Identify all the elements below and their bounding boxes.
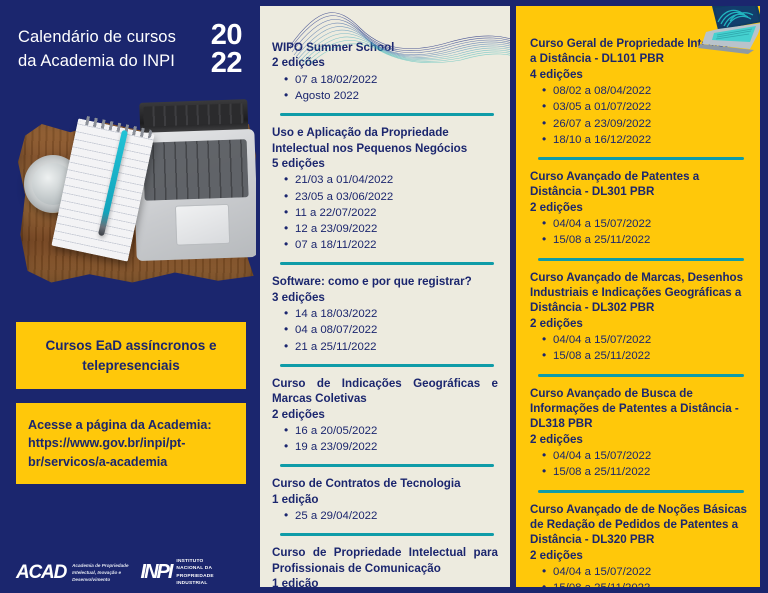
inpi-tagline-line-4: INDUSTRIAL [176,580,213,587]
course-block: Curso de Indicações Geográficas e Marcas… [272,376,498,456]
course-date-item: Agosto 2022 [284,88,498,104]
course-title: Curso Avançado de de Noções Básicas de R… [530,502,748,548]
page-title-line-1: Calendário de cursos [18,28,176,46]
academy-link-url-part-2: br/servicos/a-academia [28,453,234,471]
acad-tagline: Academia de Propriedade Intelectual, Ino… [72,562,128,583]
acad-tagline-line-2: Intelectual, Inovação e [72,569,128,576]
section-divider [280,464,494,467]
inpi-logo: INPI INSTITUTO NACIONAL DA PROPRIEDADE I… [141,558,214,587]
course-date-list: 16 a 20/05/202219 a 23/09/2022 [272,423,498,455]
course-date-item: 15/08 a 25/11/2022 [542,464,748,480]
course-date-item: 04 a 08/07/2022 [284,322,498,338]
course-block: Curso Avançado de Marcas, Desenhos Indus… [530,270,748,365]
course-date-item: 04/04 a 15/07/2022 [542,332,748,348]
course-editions-count: 2 edições [530,548,748,563]
course-date-item: 08/02 a 08/04/2022 [542,83,748,99]
course-date-item: 03/05 a 01/07/2022 [542,99,748,115]
course-title: Curso Avançado de Busca de Informações d… [530,386,748,432]
course-block: Curso de Contratos de Tecnologia1 edição… [272,476,498,524]
course-editions-count: 3 edições [272,290,498,305]
section-divider [538,490,744,493]
course-editions-count: 1 edição [272,492,498,507]
callout-course-modes: Cursos EaD assíncronos e telepresenciais [16,322,246,389]
course-date-item: 15/08 a 25/11/2022 [542,232,748,248]
course-title: Curso Avançado de Marcas, Desenhos Indus… [530,270,748,316]
course-date-list: 08/02 a 08/04/202203/05 a 01/07/202226/0… [530,83,748,148]
section-divider [280,533,494,536]
course-date-item: 18/10 a 16/12/2022 [542,132,748,148]
laptop-image [131,99,256,261]
year-badge: 20 22 [211,22,246,77]
year-top: 20 [211,22,242,50]
section-divider [538,258,744,261]
course-title: Curso de Indicações Geográficas e Marcas… [272,376,498,407]
course-date-item: 23/05 a 03/06/2022 [284,189,498,205]
academy-link-label: Acesse a página da Academia: [28,416,234,434]
course-date-list: 21/03 a 01/04/202223/05 a 03/06/202211 a… [272,172,498,253]
course-date-list: 25 a 29/04/2022 [272,508,498,524]
academy-link-url-part-1: https://www.gov.br/inpi/pt- [28,434,234,452]
page-title: Calendário de cursos da Academia do INPI [18,22,176,74]
acad-tagline-line-3: Desenvolvimento [72,576,128,583]
course-date-list: 07 a 18/02/2022Agosto 2022 [272,72,498,104]
course-date-list: 04/04 a 15/07/202215/08 a 25/11/2022 [530,332,748,364]
course-date-item: 07 a 18/02/2022 [284,72,498,88]
middle-course-list: WIPO Summer School2 edições07 a 18/02/20… [272,40,498,587]
right-course-list: Curso Geral de Propriedade Intelectual a… [530,36,748,587]
course-title: Curso de Contratos de Tecnologia [272,476,498,491]
section-divider [538,157,744,160]
course-date-item: 04/04 a 15/07/2022 [542,216,748,232]
course-date-item: 04/04 a 15/07/2022 [542,448,748,464]
course-date-item: 21/03 a 01/04/2022 [284,172,498,188]
inpi-tagline-line-3: PROPRIEDADE [176,573,213,580]
course-title: Curso Avançado de Patentes a Distância -… [530,169,748,200]
course-date-item: 11 a 22/07/2022 [284,205,498,221]
course-title: WIPO Summer School [272,40,498,55]
course-date-item: 15/08 a 25/11/2022 [542,580,748,587]
course-editions-count: 5 edições [272,156,498,171]
course-editions-count: 1 edição [272,576,498,587]
acad-wordmark: ACAD [16,562,66,584]
callout-academy-link[interactable]: Acesse a página da Academia: https://www… [16,403,246,484]
course-date-item: 19 a 23/09/2022 [284,439,498,455]
laptop-keyboard [143,139,249,201]
header-title-block: Calendário de cursos da Academia do INPI… [0,0,260,77]
desk-photo [6,89,256,304]
course-editions-count: 2 edições [530,432,748,447]
course-date-item: 04/04 a 15/07/2022 [542,564,748,580]
inpi-tagline-line-1: INSTITUTO [176,558,213,565]
course-date-list: 04/04 a 15/07/202215/08 a 25/11/2022 [530,448,748,480]
course-block: Curso Avançado de Busca de Informações d… [530,386,748,481]
inpi-wordmark: INPI [141,561,172,584]
course-block: Curso de Propriedade Intelectual para Pr… [272,545,498,587]
course-date-item: 26/07 a 23/09/2022 [542,116,748,132]
course-date-item: 12 a 23/09/2022 [284,221,498,237]
course-date-item: 07 a 18/11/2022 [284,237,498,253]
course-date-list: 14 a 18/03/202204 a 08/07/202221 a 25/11… [272,306,498,355]
course-block: Curso Avançado de de Noções Básicas de R… [530,502,748,587]
acad-tagline-line-1: Academia de Propriedade [72,562,128,569]
poster-root: Calendário de cursos da Academia do INPI… [0,0,768,593]
middle-course-panel: WIPO Summer School2 edições07 a 18/02/20… [260,6,510,587]
course-date-item: 15/08 a 25/11/2022 [542,348,748,364]
course-block: Software: como e por que registrar?3 edi… [272,274,498,354]
course-editions-count: 2 edições [272,407,498,422]
year-bottom: 22 [211,50,242,78]
inpi-tagline: INSTITUTO NACIONAL DA PROPRIEDADE INDUST… [176,558,213,587]
laptop-trackpad [175,204,230,246]
course-editions-count: 2 edições [530,200,748,215]
page-title-line-2: da Academia do INPI [18,50,176,74]
course-date-list: 04/04 a 15/07/202215/08 a 25/11/2022 [530,564,748,587]
course-editions-count: 2 edições [530,316,748,331]
section-divider [280,262,494,265]
acad-logo: ACAD Academia de Propriedade Intelectual… [16,562,129,584]
section-divider [538,374,744,377]
right-course-panel: Curso Geral de Propriedade Intelectual a… [516,6,760,587]
course-editions-count: 2 edições [272,55,498,70]
course-date-item: 14 a 18/03/2022 [284,306,498,322]
section-divider [280,113,494,116]
course-title: Curso de Propriedade Intelectual para Pr… [272,545,498,576]
laptop-illustration-icon [692,6,760,56]
inpi-tagline-line-2: NACIONAL DA [176,565,213,572]
course-block: Uso e Aplicação da Propriedade Intelectu… [272,125,498,253]
course-editions-count: 4 edições [530,67,748,82]
course-date-item: 21 a 25/11/2022 [284,339,498,355]
course-date-list: 04/04 a 15/07/202215/08 a 25/11/2022 [530,216,748,248]
course-block: WIPO Summer School2 edições07 a 18/02/20… [272,40,498,104]
footer-logos: ACAD Academia de Propriedade Intelectual… [0,558,260,587]
left-column: Calendário de cursos da Academia do INPI… [0,0,260,593]
course-title: Software: como e por que registrar? [272,274,498,289]
course-date-item: 25 a 29/04/2022 [284,508,498,524]
course-title: Uso e Aplicação da Propriedade Intelectu… [272,125,498,156]
course-block: Curso Avançado de Patentes a Distância -… [530,169,748,249]
course-date-item: 16 a 20/05/2022 [284,423,498,439]
section-divider [280,364,494,367]
